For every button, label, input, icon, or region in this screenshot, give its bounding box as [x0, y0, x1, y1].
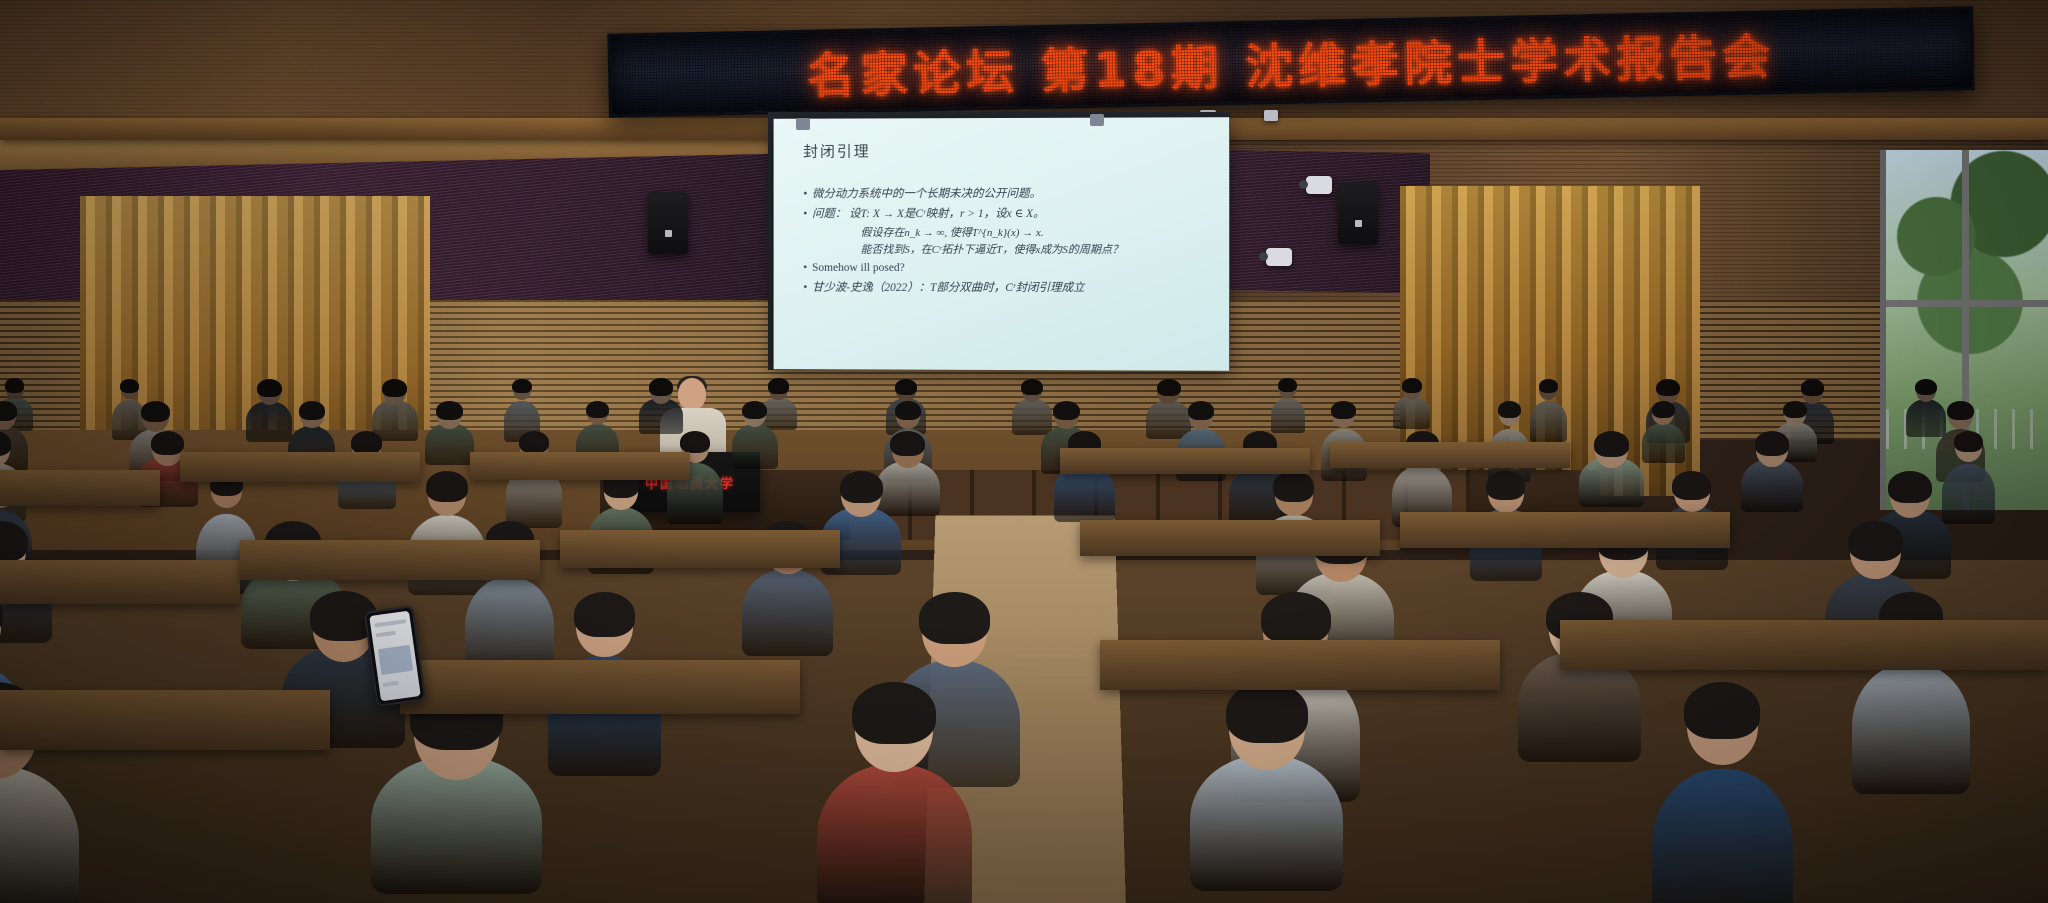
audience-hair [436, 401, 462, 421]
projection-screen: 封闭引理 •微分动力系统中的一个长期未决的公开问题。 •问题： 设T: X → … [774, 117, 1230, 371]
audience-hair [840, 471, 883, 503]
bullet-marker: • [803, 282, 807, 294]
audience-hair [5, 378, 24, 392]
slide-bullet: •问题： 设T: X → X是Cʳ映射，r > 1，设x ∈ X。 [803, 205, 1213, 223]
audience-member [876, 461, 940, 517]
audience-member [1942, 464, 1996, 524]
bench-desk [1560, 620, 2048, 670]
bench-desk [1080, 520, 1380, 556]
wall-speaker-right [1338, 182, 1378, 244]
audience-hair [1848, 521, 1902, 561]
audience-hair [120, 379, 139, 393]
bullet-marker: • [803, 208, 807, 220]
audience-hair [519, 431, 549, 454]
audience-hair [1498, 401, 1521, 418]
lecture-hall-photo: 名家论坛 第18期 沈维孝院士学术报告会 封闭引理 •微分动力系统中的一个长期未… [0, 0, 2048, 903]
bench-desk [0, 690, 330, 750]
audience-member [1652, 769, 1793, 903]
audience-hair [895, 379, 917, 395]
bullet-text: Somehow ill posed? [812, 262, 904, 274]
audience-hair [1652, 401, 1675, 418]
audience-member [1530, 401, 1566, 442]
bench-desk [1330, 442, 1570, 468]
presentation-slide: 封闭引理 •微分动力系统中的一个长期未决的公开问题。 •问题： 设T: X → … [774, 117, 1230, 371]
bullet-text: 甘少波-史逸（2022）：T部分双曲时，Cʳ封闭引理成立 [812, 282, 1084, 294]
audience-hair [1226, 682, 1309, 743]
slide-bullet: •甘少波-史逸（2022）：T部分双曲时，Cʳ封闭引理成立 [803, 279, 1213, 297]
audience-hair [649, 378, 673, 396]
bench-desk [0, 560, 240, 604]
audience-member [1012, 398, 1052, 435]
audience-hair [742, 401, 767, 420]
audience-hair [1656, 379, 1680, 397]
audience-hair [1486, 471, 1525, 500]
phone-ui-line [383, 681, 399, 687]
audience-hair [151, 431, 184, 455]
audience-hair [680, 431, 710, 453]
bench-desk [240, 540, 540, 580]
audience-member [1190, 755, 1343, 891]
audience-hair [382, 379, 407, 397]
wall-speaker-left [648, 192, 688, 254]
slide-tail-bullet-list: •Somehow ill posed? •甘少波-史逸（2022）：T部分双曲时… [803, 259, 1213, 297]
bench-desk [560, 530, 840, 568]
phone-screen [369, 611, 421, 702]
audience-member [817, 764, 972, 903]
audience-member [1271, 398, 1306, 433]
security-camera-left [1306, 176, 1332, 194]
bullet-text: 问题： 设T: X → X是Cʳ映射，r > 1，设x ∈ X。 [812, 208, 1044, 220]
presenter-head [678, 378, 706, 410]
audience-hair [852, 682, 936, 744]
ceiling-mount-e [1264, 110, 1278, 121]
screen-clip-left [796, 118, 810, 130]
audience-hair [141, 401, 170, 423]
slide-title: 封闭引理 [803, 139, 1213, 161]
audience-hair [890, 431, 924, 457]
audience-member [246, 401, 292, 442]
audience-hair [1402, 378, 1422, 393]
bench-desk [400, 660, 800, 714]
phone-ui-line [374, 619, 406, 627]
window-mullion-horizontal [1886, 300, 2048, 307]
audience-hair [1915, 379, 1937, 395]
slide-bullet: •微分动力系统中的一个长期未决的公开问题。 [803, 185, 1213, 204]
phone-ui-block [378, 645, 413, 675]
audience-member [1906, 399, 1947, 437]
audience-member [1852, 663, 1970, 794]
bench-desk [1400, 512, 1730, 548]
audience-hair [1188, 401, 1215, 421]
audience-hair [1947, 401, 1973, 421]
security-camera-right [1266, 248, 1292, 266]
bench-desk [470, 452, 690, 480]
audience-hair [1278, 378, 1297, 392]
audience-hair [299, 401, 325, 420]
audience-hair [1331, 401, 1356, 419]
slide-subline: 假设存在n_k → ∞, 使得T^{n_k}(x) → x. [803, 225, 1213, 242]
audience-member [425, 423, 474, 465]
audience-hair [1053, 401, 1080, 421]
phone-ui-line [376, 631, 396, 638]
audience-member [732, 424, 778, 468]
audience-member [1741, 459, 1804, 512]
audience-hair [1783, 401, 1807, 419]
bench-desk [180, 452, 420, 482]
audience-hair [1273, 471, 1314, 502]
audience-hair [512, 379, 531, 393]
slide-bullet-list: •微分动力系统中的一个长期未决的公开问题。 •问题： 设T: X → X是Cʳ映… [803, 185, 1213, 223]
audience-hair [586, 401, 609, 418]
audience-hair [1954, 431, 1983, 453]
audience-hair [1594, 431, 1629, 457]
audience-hair [768, 378, 788, 393]
slide-bullet: •Somehow ill posed? [803, 259, 1213, 277]
bullet-marker: • [803, 262, 807, 274]
audience-hair [257, 379, 282, 397]
audience-hair [1672, 471, 1711, 500]
audience-member [1642, 423, 1685, 464]
bench-desk [1060, 448, 1310, 474]
audience-hair [1157, 379, 1181, 397]
audience-hair [919, 592, 989, 644]
audience-member [742, 569, 833, 657]
bench-desk [1100, 640, 1500, 690]
audience-hair [1261, 592, 1331, 644]
audience-hair [1539, 379, 1559, 394]
audience-hair [351, 431, 382, 454]
audience-hair [895, 401, 921, 420]
audience-hair [574, 592, 635, 637]
audience-member [1393, 396, 1430, 429]
slide-subline: 能否找到S，在Cʳ拓扑下逼近T，使得x成为S的周期点？ [803, 242, 1213, 259]
audience-hair [1801, 379, 1824, 396]
audience-hair [426, 471, 468, 502]
bullet-text: 微分动力系统中的一个长期未决的公开问题。 [812, 188, 1041, 200]
bench-desk [0, 470, 160, 506]
audience-hair [1021, 379, 1043, 395]
screen-clip-right [1090, 114, 1104, 126]
led-banner-text: 名家论坛 第18期 沈维孝院士学术报告会 [806, 17, 1775, 106]
audience-hair [1684, 682, 1760, 738]
audience-hair [1888, 471, 1932, 504]
bullet-marker: • [803, 188, 807, 200]
audience-hair [1755, 431, 1789, 456]
